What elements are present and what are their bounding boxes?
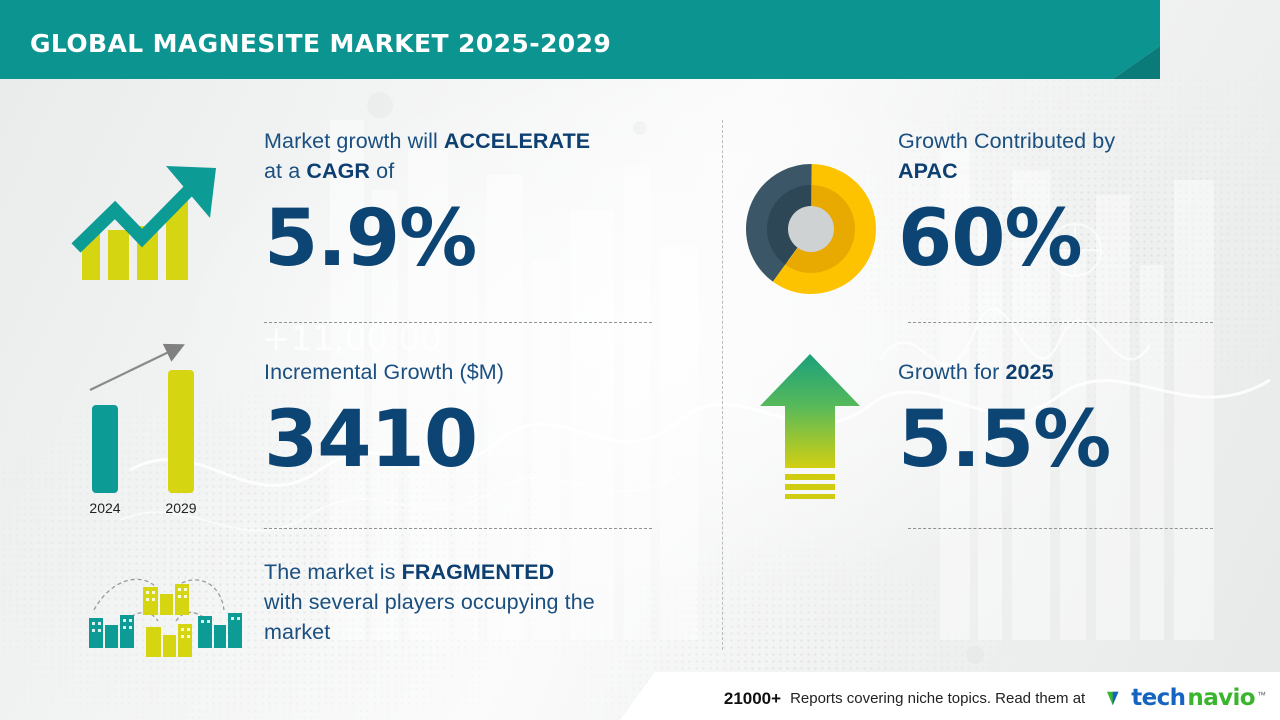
- footer-content: 21000+ Reports covering niche topics. Re…: [724, 687, 1266, 710]
- incremental-growth-value: 3410: [264, 399, 664, 481]
- yearly-growth-headline: Growth for 2025: [898, 357, 1228, 387]
- yearly-line1-pre: Growth for: [898, 360, 1005, 384]
- yearly-growth-block: Growth for 2025 5.5%: [898, 357, 1228, 481]
- growth-chart-icon: [70, 148, 230, 293]
- region-line1: Growth Contributed by: [898, 129, 1115, 153]
- incremental-growth-block: Incremental Growth ($M) 3410: [264, 357, 664, 481]
- yearly-line1-bold: 2025: [1005, 360, 1053, 384]
- up-arrow-icon: [755, 348, 865, 508]
- donut-chart-icon: [745, 163, 877, 295]
- page-title: GLOBAL MAGNESITE MARKET 2025-2029: [30, 29, 611, 58]
- fragmentation-block: The market is FRAGMENTED with several pl…: [264, 557, 684, 647]
- bar-label-2029: 2029: [165, 500, 196, 516]
- region-contribution-block: Growth Contributed by APAC 60%: [898, 126, 1228, 280]
- fragmentation-text: The market is FRAGMENTED with several pl…: [264, 557, 684, 647]
- left-divider-1: [264, 322, 652, 323]
- region-headline: Growth Contributed by APAC: [898, 126, 1228, 186]
- right-divider-1: [908, 322, 1213, 323]
- left-divider-2: [264, 528, 652, 529]
- region-value: 60%: [898, 198, 1228, 280]
- cagr-value: 5.9%: [264, 198, 664, 280]
- logo-text-navio: navio: [1187, 687, 1255, 710]
- fragmentation-line3: market: [264, 620, 330, 644]
- cagr-line2-pre: at a: [264, 159, 306, 183]
- fragmentation-line2: with several players occupying the: [264, 590, 595, 614]
- right-divider-2: [908, 528, 1213, 529]
- technavio-logo[interactable]: tech navio ™: [1106, 687, 1266, 710]
- logo-trademark: ™: [1257, 690, 1266, 700]
- cagr-line1-bold: ACCELERATE: [444, 129, 590, 153]
- fragmentation-line1-pre: The market is: [264, 560, 402, 584]
- bar-comparison-icon: 2024 2029: [70, 335, 235, 520]
- report-count: 21000+: [724, 689, 781, 709]
- footer-tagline: Reports covering niche topics. Read them…: [790, 690, 1085, 707]
- region-line2-bold: APAC: [898, 159, 958, 183]
- market-players-icon: [72, 565, 247, 665]
- bar-label-2024: 2024: [89, 500, 120, 516]
- cagr-line2-post: of: [370, 159, 394, 183]
- yearly-growth-value: 5.5%: [898, 399, 1228, 481]
- logo-text-tech: tech: [1131, 687, 1185, 710]
- svg-text:+11,00.00: +11,00.00: [262, 319, 442, 359]
- cagr-line2-bold: CAGR: [306, 159, 370, 183]
- infographic-canvas: +11,00.00 GLOBAL MAGNESITE MARKET 2025-2…: [0, 0, 1280, 720]
- fragmentation-line1-bold: FRAGMENTED: [402, 560, 555, 584]
- cagr-line1-pre: Market growth will: [264, 129, 444, 153]
- column-divider: [722, 120, 723, 650]
- incremental-growth-label: Incremental Growth ($M): [264, 357, 664, 387]
- cagr-headline: Market growth will ACCELERATE at a CAGR …: [264, 126, 664, 186]
- technavio-mark-icon: [1106, 687, 1129, 710]
- cagr-block: Market growth will ACCELERATE at a CAGR …: [264, 126, 664, 280]
